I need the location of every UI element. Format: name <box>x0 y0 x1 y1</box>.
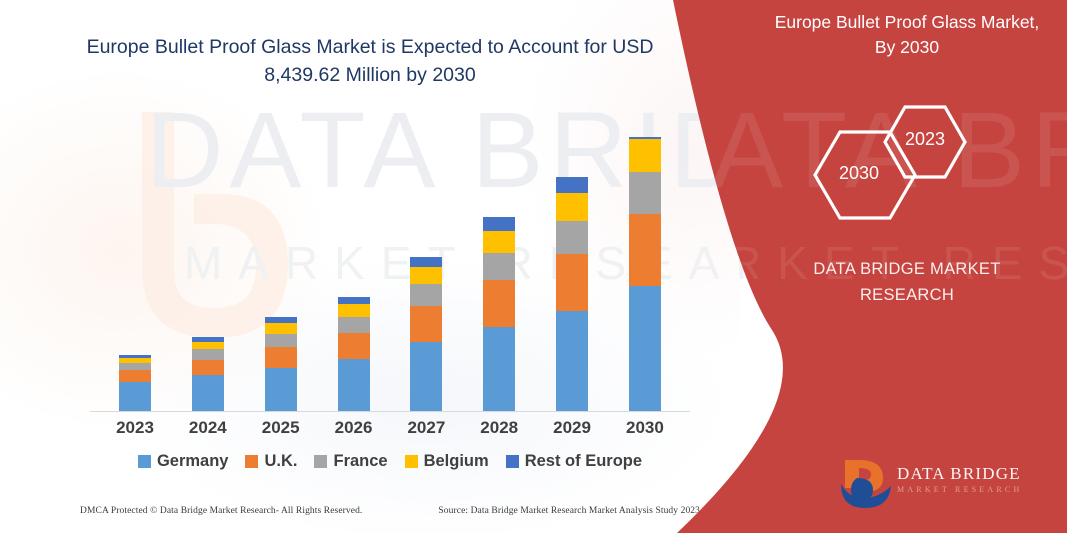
legend-swatch-u-k <box>245 455 258 468</box>
bar-segment-germany[interactable] <box>192 375 224 412</box>
legend-label-germany: Germany <box>157 452 229 471</box>
dbmr-logo: DATA BRIDGE MARKET RESEARCH <box>839 458 1039 514</box>
bar-segment-germany[interactable] <box>265 368 297 412</box>
stacked-bar[interactable] <box>119 355 151 412</box>
legend-item-rest-of-europe[interactable]: Rest of Europe <box>506 452 642 471</box>
legend-item-germany[interactable]: Germany <box>138 452 229 471</box>
bar-segment-u-k[interactable] <box>265 347 297 368</box>
footer-source: Source: Data Bridge Market Research Mark… <box>438 506 700 516</box>
stacked-bar[interactable] <box>629 137 661 412</box>
bar-segment-france[interactable] <box>192 349 224 359</box>
bar-segment-belgium[interactable] <box>410 267 442 284</box>
bar-segment-belgium[interactable] <box>483 231 515 253</box>
footer-copyright: DMCA Protected © Data Bridge Market Rese… <box>80 506 362 516</box>
bar-segment-germany[interactable] <box>483 327 515 412</box>
bar-group-2029 <box>541 110 603 412</box>
bar-segment-france[interactable] <box>629 172 661 214</box>
bar-segment-u-k[interactable] <box>629 214 661 286</box>
x-axis-tick-labels: 20232024202520262027202820292030 <box>90 418 690 446</box>
bar-segment-u-k[interactable] <box>192 360 224 376</box>
stacked-bar[interactable] <box>483 217 515 412</box>
bar-segment-germany[interactable] <box>119 382 151 412</box>
bar-segment-rest-of-europe[interactable] <box>410 257 442 267</box>
bar-segment-rest-of-europe[interactable] <box>483 217 515 231</box>
legend-label-belgium: Belgium <box>424 452 489 471</box>
bar-segment-germany[interactable] <box>410 342 442 412</box>
chart-legend: GermanyU.K.FranceBelgiumRest of Europe <box>90 452 690 471</box>
bar-segment-rest-of-europe[interactable] <box>556 177 588 193</box>
bar-segment-germany[interactable] <box>338 359 370 412</box>
bar-segment-germany[interactable] <box>556 311 588 412</box>
bar-segment-belgium[interactable] <box>192 342 224 350</box>
bar-segment-france[interactable] <box>265 334 297 347</box>
bar-segment-u-k[interactable] <box>410 306 442 342</box>
hexagon-2030-label: 2030 <box>839 163 879 184</box>
red-panel-title: Europe Bullet Proof Glass Market, By 203… <box>767 10 1047 61</box>
infographic-root: DATA BRIDGE MARKET RESEARCH Europe Bulle… <box>0 0 1067 533</box>
x-tick-label-2029: 2029 <box>541 418 603 446</box>
bar-group-2023 <box>104 110 166 412</box>
x-tick-label-2027: 2027 <box>395 418 457 446</box>
x-tick-label-2026: 2026 <box>323 418 385 446</box>
hexagon-2023-label: 2023 <box>905 129 945 150</box>
x-tick-label-2023: 2023 <box>104 418 166 446</box>
bar-segment-u-k[interactable] <box>556 254 588 311</box>
legend-item-u-k[interactable]: U.K. <box>245 452 297 471</box>
bar-segment-france[interactable] <box>119 363 151 370</box>
bar-segment-france[interactable] <box>556 221 588 254</box>
dbmr-logo-subtitle: MARKET RESEARCH <box>897 485 1022 494</box>
bar-group-2024 <box>177 110 239 412</box>
stacked-bar[interactable] <box>192 337 224 412</box>
legend-swatch-rest-of-europe <box>506 455 519 468</box>
legend-swatch-germany <box>138 455 151 468</box>
legend-label-rest-of-europe: Rest of Europe <box>525 452 642 471</box>
bar-segment-france[interactable] <box>338 317 370 333</box>
stacked-bar[interactable] <box>556 177 588 412</box>
chart-plot-area <box>90 110 690 412</box>
dbmr-logo-title: DATA BRIDGE <box>897 464 1021 484</box>
bar-group-2026 <box>323 110 385 412</box>
stacked-bar[interactable] <box>265 317 297 412</box>
bar-segment-rest-of-europe[interactable] <box>338 297 370 304</box>
bar-segment-belgium[interactable] <box>629 139 661 172</box>
bar-segment-belgium[interactable] <box>338 304 370 317</box>
x-tick-label-2028: 2028 <box>468 418 530 446</box>
legend-swatch-france <box>314 455 327 468</box>
dbmr-logo-mark-icon <box>839 458 895 510</box>
bar-segment-germany[interactable] <box>629 286 661 412</box>
legend-item-france[interactable]: France <box>314 452 387 471</box>
x-tick-label-2025: 2025 <box>250 418 312 446</box>
bar-segment-france[interactable] <box>483 253 515 280</box>
right-red-panel: DATA BRIDGE MARKET RESEARCH Europe Bulle… <box>667 0 1067 533</box>
bar-segment-u-k[interactable] <box>119 370 151 382</box>
bar-group-2027 <box>395 110 457 412</box>
red-panel-brand: DATA BRIDGE MARKET RESEARCH <box>767 256 1047 309</box>
bar-segment-belgium[interactable] <box>556 193 588 220</box>
legend-item-belgium[interactable]: Belgium <box>405 452 489 471</box>
stacked-bar[interactable] <box>410 257 442 412</box>
bar-segment-u-k[interactable] <box>338 333 370 359</box>
x-axis-line <box>90 411 690 412</box>
bar-group-2028 <box>468 110 530 412</box>
bar-segment-u-k[interactable] <box>483 280 515 327</box>
hexagon-group: 2030 2023 <box>757 95 1057 235</box>
legend-label-france: France <box>333 452 387 471</box>
legend-swatch-belgium <box>405 455 418 468</box>
stacked-bar[interactable] <box>338 297 370 412</box>
stacked-bar-chart <box>90 110 690 412</box>
x-tick-label-2024: 2024 <box>177 418 239 446</box>
hexagon-outlines <box>757 95 1057 235</box>
page-title: Europe Bullet Proof Glass Market is Expe… <box>70 34 670 89</box>
footer: DMCA Protected © Data Bridge Market Rese… <box>80 506 700 516</box>
legend-label-u-k: U.K. <box>264 452 297 471</box>
bar-segment-belgium[interactable] <box>265 323 297 333</box>
bar-segment-france[interactable] <box>410 284 442 306</box>
bar-group-2025 <box>250 110 312 412</box>
